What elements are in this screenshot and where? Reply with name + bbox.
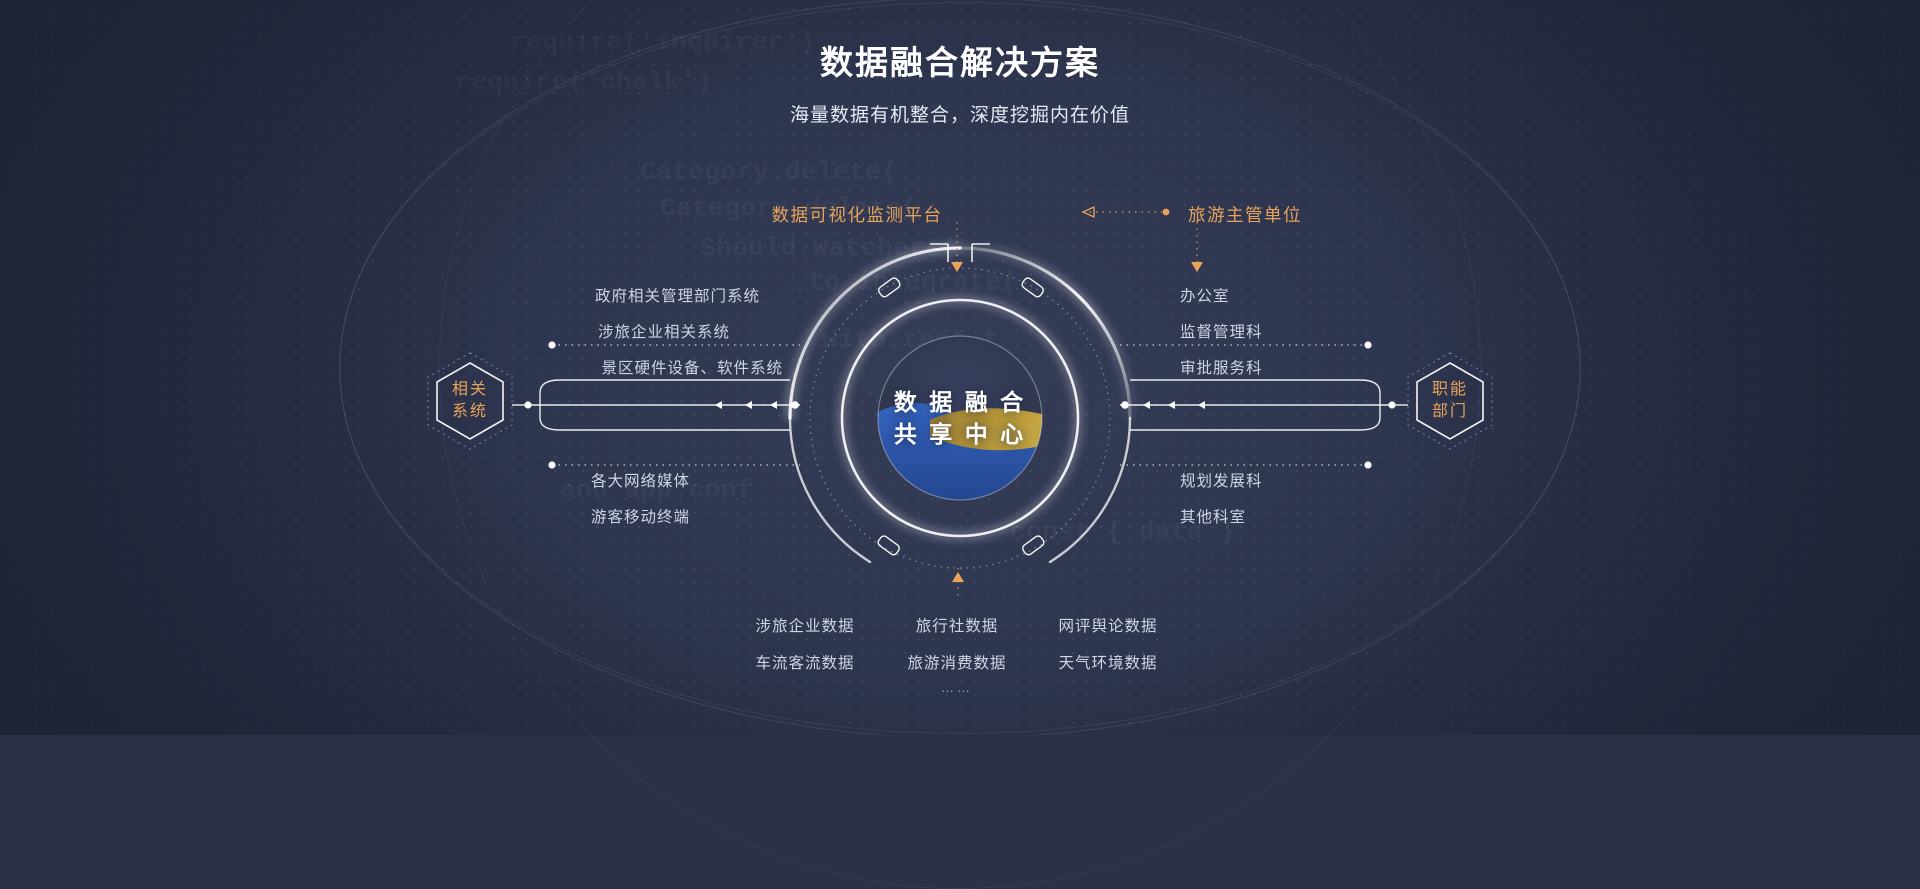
left-connector-lines <box>512 341 800 468</box>
page-title: 数据融合解决方案 <box>0 36 1920 84</box>
top-connectors <box>951 207 1203 272</box>
right-connector-lines <box>1120 341 1408 468</box>
core-label: 数 据 融 合 共 享 中 心 <box>894 386 1026 450</box>
header: 数据融合解决方案 海量数据有机整合，深度挖掘内在价值 <box>0 0 1920 127</box>
right-hexagon-badge <box>1408 353 1492 449</box>
page-subtitle: 海量数据有机整合，深度挖掘内在价值 <box>0 100 1920 127</box>
bottom-connector <box>952 568 964 600</box>
left-hexagon-badge <box>428 353 512 449</box>
core-label-line1: 数 据 融 合 <box>894 386 1026 418</box>
core-label-line2: 共 享 中 心 <box>894 418 1026 450</box>
